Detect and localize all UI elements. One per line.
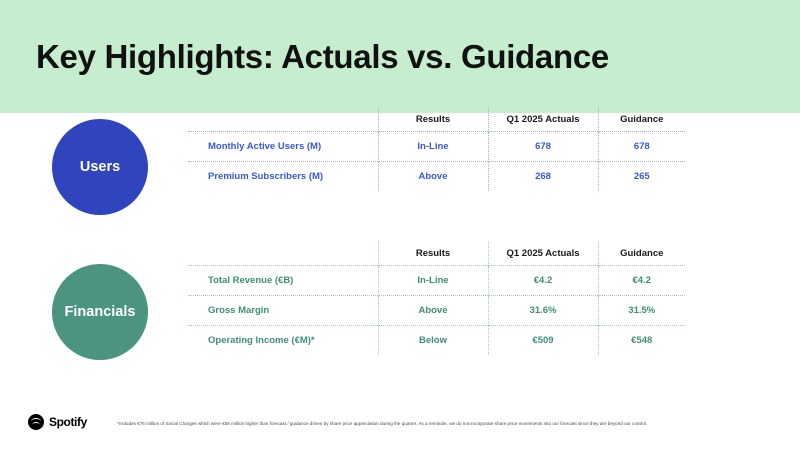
cell-actuals: 678 [488, 132, 598, 162]
cell-actuals: €509 [488, 326, 598, 356]
column-header-guidance: Guidance [598, 107, 685, 132]
category-circle-users-label: Users [80, 159, 120, 175]
page-title: Key Highlights: Actuals vs. Guidance [36, 38, 609, 76]
cell-metric: Monthly Active Users (M) [188, 132, 378, 162]
cell-results: In-Line [378, 266, 488, 296]
cell-actuals: 31.6% [488, 296, 598, 326]
cell-metric: Gross Margin [188, 296, 378, 326]
cell-metric: Operating Income (€M)* [188, 326, 378, 356]
category-circle-users: Users [52, 119, 148, 215]
table-header-row: Results Q1 2025 Actuals Guidance [188, 241, 685, 266]
metrics-table-financials: Results Q1 2025 Actuals Guidance Total R… [188, 241, 685, 355]
column-header-guidance: Guidance [598, 241, 685, 266]
column-header-actuals: Q1 2025 Actuals [488, 241, 598, 266]
cell-results: Above [378, 296, 488, 326]
table-header-row: Results Q1 2025 Actuals Guidance [188, 107, 685, 132]
spotify-wordmark: Spotify [49, 415, 87, 429]
cell-guidance: 678 [598, 132, 685, 162]
cell-metric: Premium Subscribers (M) [188, 162, 378, 192]
column-header-metric [188, 241, 378, 266]
cell-results: Above [378, 162, 488, 192]
spotify-logo: Spotify [28, 414, 87, 430]
category-circle-financials-label: Financials [65, 304, 136, 320]
table-row: Premium Subscribers (M) Above 268 265 [188, 162, 685, 192]
spotify-logo-icon [28, 414, 44, 430]
category-circle-financials: Financials [52, 264, 148, 360]
table-row: Gross Margin Above 31.6% 31.5% [188, 296, 685, 326]
column-header-results: Results [378, 241, 488, 266]
column-header-actuals: Q1 2025 Actuals [488, 107, 598, 132]
cell-guidance: 31.5% [598, 296, 685, 326]
cell-actuals: €4.2 [488, 266, 598, 296]
footnote: *Includes €76 million of Social Charges … [117, 420, 785, 429]
cell-guidance: €4.2 [598, 266, 685, 296]
cell-actuals: 268 [488, 162, 598, 192]
table-row: Total Revenue (€B) In-Line €4.2 €4.2 [188, 266, 685, 296]
column-header-metric [188, 107, 378, 132]
table-row: Monthly Active Users (M) In-Line 678 678 [188, 132, 685, 162]
metrics-table-users: Results Q1 2025 Actuals Guidance Monthly… [188, 107, 685, 191]
cell-metric: Total Revenue (€B) [188, 266, 378, 296]
cell-results: In-Line [378, 132, 488, 162]
cell-guidance: €548 [598, 326, 685, 356]
column-header-results: Results [378, 107, 488, 132]
cell-guidance: 265 [598, 162, 685, 192]
cell-results: Below [378, 326, 488, 356]
table-row: Operating Income (€M)* Below €509 €548 [188, 326, 685, 356]
